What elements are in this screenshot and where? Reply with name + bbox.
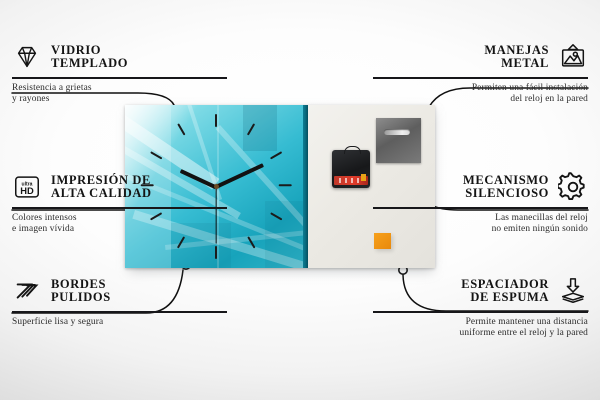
feature-header: MANEJAS METAL: [373, 42, 588, 72]
feature-description: Superficie lisa y segura: [12, 317, 227, 328]
feature-rule: [12, 77, 227, 79]
feature-title: IMPRESIÓN DE ALTA CALIDAD: [51, 174, 152, 201]
feature-header: MECANISMO SILENCIOSO: [373, 172, 588, 202]
feature-header: ESPACIADOR DE ESPUMA: [373, 276, 588, 306]
feature-description: Resistencia a grietas y rayones: [12, 83, 227, 106]
clock-tick: [177, 123, 186, 135]
feature-manejas-metal: MANEJAS METAL Permiten una fácil instala…: [373, 42, 588, 105]
feature-description: Permite mantener una distancia uniforme …: [373, 317, 588, 340]
feature-header: ultra HD IMPRESIÓN DE ALTA CALIDAD: [12, 172, 227, 202]
diamond-icon: [12, 42, 42, 72]
feature-rule: [12, 311, 227, 313]
feature-header: VIDRIO TEMPLADO: [12, 42, 227, 72]
feature-espaciador-espuma: ESPACIADOR DE ESPUMA Permite mantener un…: [373, 276, 588, 339]
clock-mechanism-part: [332, 150, 370, 188]
gear-icon: [558, 172, 588, 202]
feature-description: Colores intensos e imagen vívida: [12, 213, 227, 236]
clock-tick: [279, 184, 292, 186]
feature-title: MANEJAS METAL: [484, 44, 549, 71]
feature-rule: [373, 207, 588, 209]
feature-header: BORDES PULIDOS: [12, 276, 227, 306]
feature-rule: [373, 311, 588, 313]
feature-vidrio-templado: VIDRIO TEMPLADO Resistencia a grietas y …: [12, 42, 227, 105]
picture-frame-icon: [558, 42, 588, 72]
svg-text:HD: HD: [20, 186, 34, 196]
polished-edges-icon: [12, 276, 42, 306]
feature-impresion-alta-calidad: ultra HD IMPRESIÓN DE ALTA CALIDAD Color…: [12, 172, 227, 235]
ultra-hd-icon: ultra HD: [12, 172, 42, 202]
mechanism-hook: [344, 146, 361, 154]
clock-tick: [270, 151, 282, 160]
feature-bordes-pulidos: BORDES PULIDOS Superficie lisa y segura: [12, 276, 227, 328]
feature-mecanismo-silencioso: MECANISMO SILENCIOSO Las manecillas del …: [373, 172, 588, 235]
feature-title: BORDES PULIDOS: [51, 278, 111, 305]
feature-description: Permiten una fácil instalación del reloj…: [373, 83, 588, 106]
metal-hanger-part: [376, 118, 421, 163]
battery-compartment: [334, 176, 368, 185]
battery-tab: [361, 174, 366, 181]
feature-title: ESPACIADOR DE ESPUMA: [461, 278, 549, 305]
hanger-slot: [384, 129, 410, 135]
foam-spacer-icon: [558, 276, 588, 306]
feature-rule: [12, 207, 227, 209]
feature-title: VIDRIO TEMPLADO: [51, 44, 128, 71]
infographic-canvas: VIDRIO TEMPLADO Resistencia a grietas y …: [0, 0, 600, 400]
feature-title: MECANISMO SILENCIOSO: [463, 174, 549, 201]
feature-rule: [373, 77, 588, 79]
feature-description: Las manecillas del reloj no emiten ningú…: [373, 213, 588, 236]
